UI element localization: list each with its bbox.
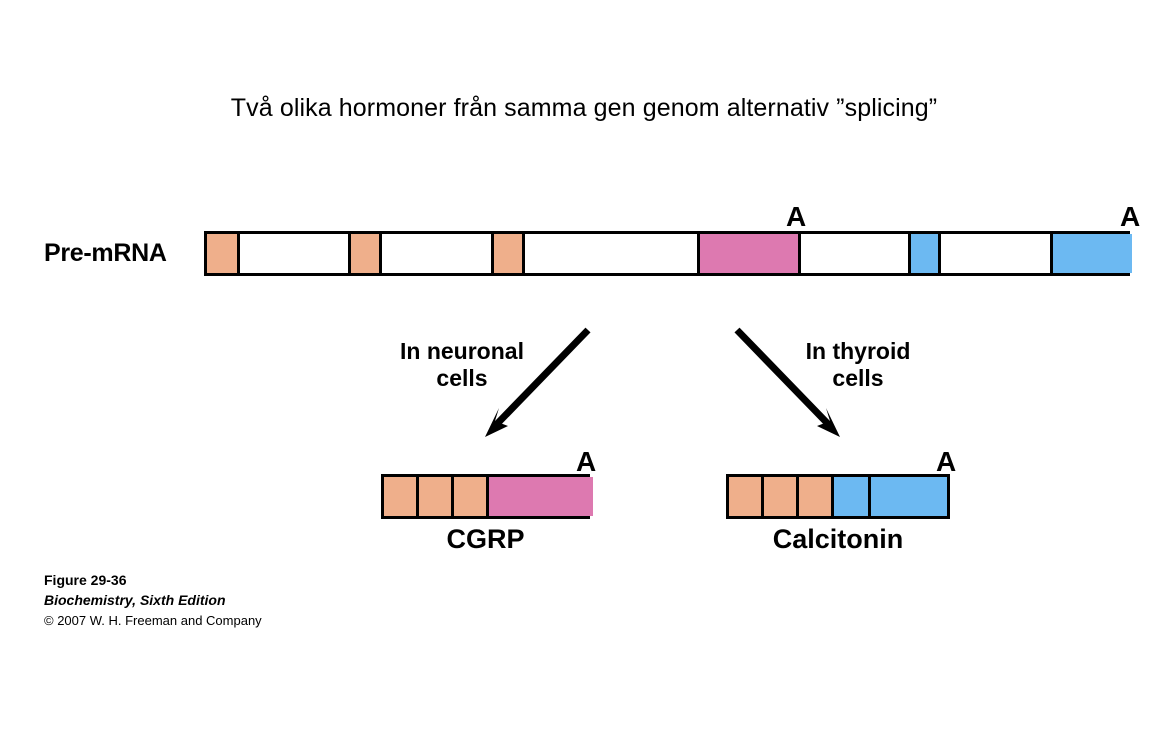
product-label-cgrp: CGRP <box>381 524 590 555</box>
page-title: Två olika hormoner från samma gen genom … <box>0 94 1168 123</box>
polya-site-marker-cgrp: A <box>786 203 806 231</box>
cgrp-mrna-bar <box>381 474 590 519</box>
exon-segment <box>207 234 240 273</box>
intron-segment <box>525 234 700 273</box>
polya-marker-calcitonin-product: A <box>936 448 956 476</box>
intron-segment <box>801 234 911 273</box>
exon-segment <box>454 477 489 516</box>
exon-segment <box>1053 234 1132 273</box>
pathway-label-thyroid-line2: cells <box>788 365 928 392</box>
exon-segment <box>700 234 801 273</box>
intron-segment <box>941 234 1053 273</box>
pathway-label-thyroid: In thyroid cells <box>788 338 928 392</box>
exon-segment <box>729 477 764 516</box>
pathway-label-neuronal-line2: cells <box>380 365 544 392</box>
pre-mrna-label: Pre-mRNA <box>44 239 167 268</box>
exon-segment <box>911 234 941 273</box>
calcitonin-mrna-bar <box>726 474 950 519</box>
pathway-label-neuronal-line1: In neuronal <box>380 338 544 365</box>
exon-segment <box>494 234 525 273</box>
figure-caption: Figure 29-36 Biochemistry, Sixth Edition… <box>44 570 262 630</box>
exon-segment <box>834 477 871 516</box>
exon-segment <box>384 477 419 516</box>
exon-segment <box>419 477 454 516</box>
caption-book-title: Biochemistry, Sixth Edition <box>44 590 262 610</box>
pathway-label-neuronal: In neuronal cells <box>380 338 544 392</box>
exon-segment <box>799 477 834 516</box>
intron-segment <box>382 234 494 273</box>
exon-segment <box>351 234 382 273</box>
exon-segment <box>764 477 799 516</box>
figure-canvas: Två olika hormoner från samma gen genom … <box>0 0 1168 740</box>
polya-site-marker-calcitonin: A <box>1120 203 1140 231</box>
product-label-calcitonin: Calcitonin <box>726 524 950 555</box>
caption-copyright: © 2007 W. H. Freeman and Company <box>44 611 262 631</box>
pre-mrna-transcript-bar <box>204 231 1130 276</box>
pathway-label-thyroid-line1: In thyroid <box>788 338 928 365</box>
exon-segment <box>489 477 593 516</box>
intron-segment <box>240 234 351 273</box>
polya-marker-cgrp-product: A <box>576 448 596 476</box>
caption-figure-number: Figure 29-36 <box>44 570 262 590</box>
exon-segment <box>871 477 947 516</box>
